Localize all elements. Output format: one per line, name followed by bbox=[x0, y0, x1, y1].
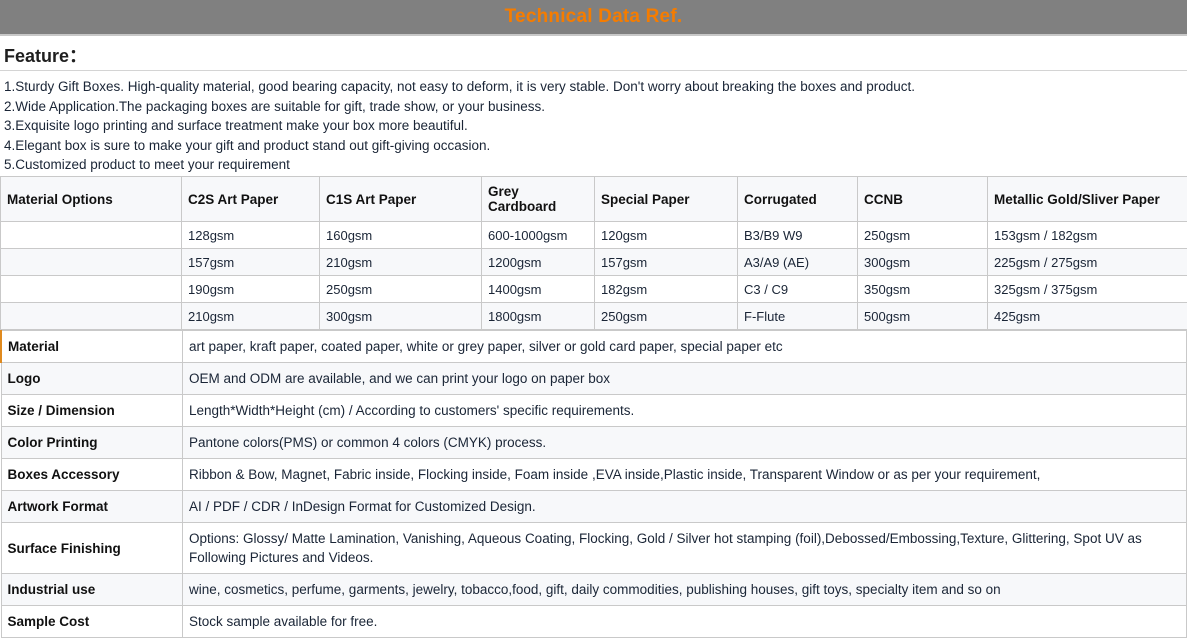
table-row: 157gsm 210gsm 1200gsm 157gsm A3/A9 (AE) … bbox=[1, 249, 1187, 276]
cell-material-options bbox=[1, 222, 182, 249]
cell-spec: 250gsm bbox=[595, 303, 738, 330]
spec-row-boxes-accessory: Boxes Accessory Ribbon & Bow, Magnet, Fa… bbox=[1, 459, 1187, 491]
cell-ccnb: 250gsm bbox=[858, 222, 988, 249]
cell-metallic: 225gsm / 275gsm bbox=[988, 249, 1187, 276]
feature-list: 1.Sturdy Gift Boxes. High-quality materi… bbox=[0, 71, 1187, 176]
column-header-corrugated: Corrugated bbox=[738, 177, 858, 222]
feature-item: 1.Sturdy Gift Boxes. High-quality materi… bbox=[4, 77, 1183, 97]
banner-header: Technical Data Ref. bbox=[0, 0, 1187, 36]
column-header-grey-cardboard: Grey Cardboard bbox=[482, 177, 595, 222]
spec-key-logo: Logo bbox=[1, 363, 183, 395]
spec-value-material: art paper, kraft paper, coated paper, wh… bbox=[183, 331, 1187, 363]
page-title: Technical Data Ref. bbox=[505, 6, 683, 28]
cell-ccnb: 350gsm bbox=[858, 276, 988, 303]
cell-grey: 1800gsm bbox=[482, 303, 595, 330]
spec-row-industrial-use: Industrial use wine, cosmetics, perfume,… bbox=[1, 574, 1187, 606]
spec-value-industrial-use: wine, cosmetics, perfume, garments, jewe… bbox=[183, 574, 1187, 606]
cell-c1s: 250gsm bbox=[320, 276, 482, 303]
cell-c2s: 210gsm bbox=[182, 303, 320, 330]
spec-key-material: Material bbox=[1, 331, 183, 363]
cell-c2s: 157gsm bbox=[182, 249, 320, 276]
table-row: 128gsm 160gsm 600-1000gsm 120gsm B3/B9 W… bbox=[1, 222, 1187, 249]
material-options-table: Material Options C2S Art Paper C1S Art P… bbox=[0, 176, 1187, 330]
cell-corr: B3/B9 W9 bbox=[738, 222, 858, 249]
spec-row-size-dimension: Size / Dimension Length*Width*Height (cm… bbox=[1, 395, 1187, 427]
feature-item: 3.Exquisite logo printing and surface tr… bbox=[4, 116, 1183, 136]
cell-corr: F-Flute bbox=[738, 303, 858, 330]
cell-spec: 182gsm bbox=[595, 276, 738, 303]
cell-ccnb: 500gsm bbox=[858, 303, 988, 330]
feature-item: 5.Customized product to meet your requir… bbox=[4, 155, 1183, 175]
table-header-row: Material Options C2S Art Paper C1S Art P… bbox=[1, 177, 1187, 222]
spec-key-surface-finishing: Surface Finishing bbox=[1, 523, 183, 574]
spec-key-industrial-use: Industrial use bbox=[1, 574, 183, 606]
feature-item: 2.Wide Application.The packaging boxes a… bbox=[4, 97, 1183, 117]
cell-metallic: 153gsm / 182gsm bbox=[988, 222, 1187, 249]
spec-value-boxes-accessory: Ribbon & Bow, Magnet, Fabric inside, Flo… bbox=[183, 459, 1187, 491]
cell-material-options bbox=[1, 303, 182, 330]
cell-c2s: 128gsm bbox=[182, 222, 320, 249]
cell-material-options bbox=[1, 249, 182, 276]
spec-value-logo: OEM and ODM are available, and we can pr… bbox=[183, 363, 1187, 395]
feature-heading: Feature： bbox=[4, 46, 87, 66]
cell-c2s: 190gsm bbox=[182, 276, 320, 303]
column-header-ccnb: CCNB bbox=[858, 177, 988, 222]
cell-ccnb: 300gsm bbox=[858, 249, 988, 276]
cell-c1s: 160gsm bbox=[320, 222, 482, 249]
column-header-c2s-art-paper: C2S Art Paper bbox=[182, 177, 320, 222]
column-header-metallic-paper: Metallic Gold/Sliver Paper bbox=[988, 177, 1187, 222]
spec-row-logo: Logo OEM and ODM are available, and we c… bbox=[1, 363, 1187, 395]
feature-heading-row: Feature： bbox=[0, 36, 1187, 71]
technical-data-sheet: Technical Data Ref. Feature： 1.Sturdy Gi… bbox=[0, 0, 1187, 620]
spec-row-sample-cost: Sample Cost Stock sample available for f… bbox=[1, 606, 1187, 638]
column-header-special-paper: Special Paper bbox=[595, 177, 738, 222]
spec-row-artwork-format: Artwork Format AI / PDF / CDR / InDesign… bbox=[1, 491, 1187, 523]
cell-grey: 1400gsm bbox=[482, 276, 595, 303]
cell-metallic: 425gsm bbox=[988, 303, 1187, 330]
spec-value-color-printing: Pantone colors(PMS) or common 4 colors (… bbox=[183, 427, 1187, 459]
spec-row-color-printing: Color Printing Pantone colors(PMS) or co… bbox=[1, 427, 1187, 459]
column-header-material-options: Material Options bbox=[1, 177, 182, 222]
specification-table: Material art paper, kraft paper, coated … bbox=[0, 330, 1187, 638]
table-row: 210gsm 300gsm 1800gsm 250gsm F-Flute 500… bbox=[1, 303, 1187, 330]
cell-corr: C3 / C9 bbox=[738, 276, 858, 303]
spec-key-color-printing: Color Printing bbox=[1, 427, 183, 459]
cell-corr: A3/A9 (AE) bbox=[738, 249, 858, 276]
spec-key-artwork-format: Artwork Format bbox=[1, 491, 183, 523]
spec-value-artwork-format: AI / PDF / CDR / InDesign Format for Cus… bbox=[183, 491, 1187, 523]
spec-key-boxes-accessory: Boxes Accessory bbox=[1, 459, 183, 491]
spec-row-material: Material art paper, kraft paper, coated … bbox=[1, 331, 1187, 363]
table-row: 190gsm 250gsm 1400gsm 182gsm C3 / C9 350… bbox=[1, 276, 1187, 303]
cell-grey: 600-1000gsm bbox=[482, 222, 595, 249]
cell-spec: 157gsm bbox=[595, 249, 738, 276]
cell-c1s: 210gsm bbox=[320, 249, 482, 276]
spec-key-size-dimension: Size / Dimension bbox=[1, 395, 183, 427]
feature-item: 4.Elegant box is sure to make your gift … bbox=[4, 136, 1183, 156]
cell-c1s: 300gsm bbox=[320, 303, 482, 330]
cell-spec: 120gsm bbox=[595, 222, 738, 249]
spec-key-sample-cost: Sample Cost bbox=[1, 606, 183, 638]
cell-metallic: 325gsm / 375gsm bbox=[988, 276, 1187, 303]
column-header-c1s-art-paper: C1S Art Paper bbox=[320, 177, 482, 222]
spec-value-sample-cost: Stock sample available for free. bbox=[183, 606, 1187, 638]
cell-grey: 1200gsm bbox=[482, 249, 595, 276]
spec-row-surface-finishing: Surface Finishing Options: Glossy/ Matte… bbox=[1, 523, 1187, 574]
spec-value-surface-finishing: Options: Glossy/ Matte Lamination, Vanis… bbox=[183, 523, 1187, 574]
cell-material-options bbox=[1, 276, 182, 303]
spec-value-size-dimension: Length*Width*Height (cm) / According to … bbox=[183, 395, 1187, 427]
